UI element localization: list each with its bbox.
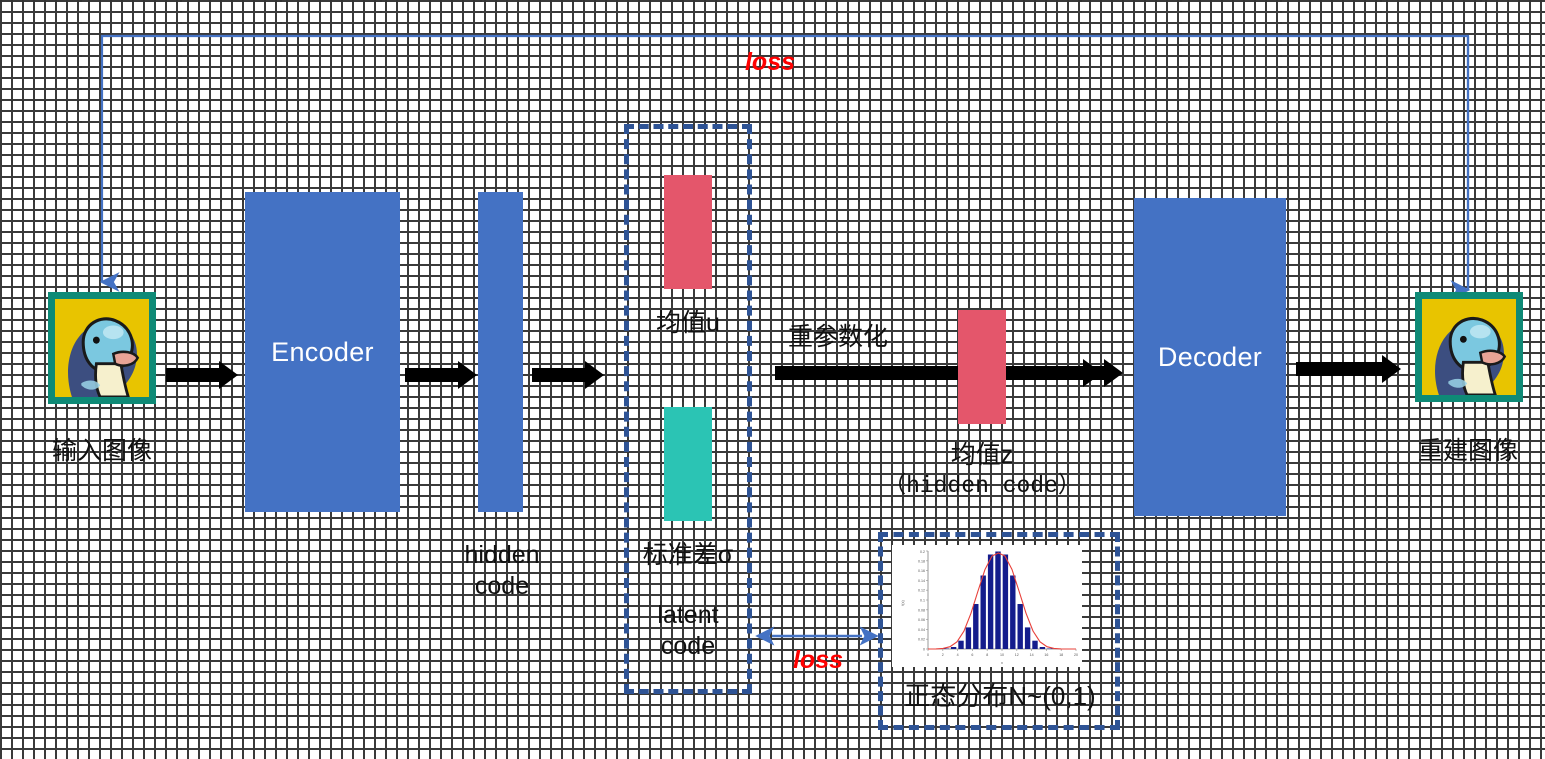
svg-text:0.16: 0.16: [918, 569, 925, 573]
normal-distribution-plot: 0 0.02 0.04 0.06 0.08 0.1 0.12 0.14 0.16…: [892, 545, 1082, 667]
mean-z-bar: [958, 310, 1006, 424]
histogram-chart: 0 0.02 0.04 0.06 0.08 0.1 0.12 0.14 0.16…: [892, 545, 1082, 667]
lapras-icon: [55, 299, 149, 397]
svg-text:0.1: 0.1: [920, 599, 925, 603]
svg-text:12: 12: [1015, 653, 1019, 657]
svg-text:4: 4: [957, 653, 959, 657]
svg-text:10: 10: [1000, 653, 1004, 657]
decoder-block: Decoder: [1134, 198, 1286, 516]
svg-text:0.2: 0.2: [920, 550, 925, 554]
std-sigma-label: 标准差σ: [610, 540, 766, 571]
svg-text:8: 8: [986, 653, 988, 657]
arrow-z-to-decoder: [1028, 366, 1106, 380]
svg-text:18: 18: [1059, 653, 1063, 657]
reconstructed-image-label: 重建图像: [1386, 436, 1545, 467]
mean-u-label: 均值u: [616, 308, 760, 339]
reparameterization-label: 重参数化: [788, 322, 948, 353]
svg-text:0: 0: [923, 648, 925, 652]
hidden-code-paren-label: （hidden code）: [880, 472, 1084, 501]
mean-z-label: 均值z: [910, 440, 1054, 471]
svg-text:20: 20: [1074, 653, 1078, 657]
hidden-code-label: hidden code: [440, 540, 564, 603]
latent-code-label: latent code: [626, 600, 750, 663]
hidden-code-bar: [478, 192, 523, 512]
svg-text:2: 2: [942, 653, 944, 657]
lapras-icon: [1422, 299, 1516, 395]
svg-text:0.12: 0.12: [918, 589, 925, 593]
std-sigma-bar: [664, 407, 712, 521]
svg-text:0.18: 0.18: [918, 559, 925, 563]
arrow-decoder-to-output: [1296, 362, 1384, 376]
svg-text:0.06: 0.06: [918, 618, 925, 622]
input-image-thumbnail: [48, 292, 156, 404]
encoder-label: Encoder: [271, 337, 374, 368]
loss-label-reconstruction: loss: [700, 48, 840, 77]
arrow-encoder-to-hidden: [405, 368, 460, 382]
encoder-block: Encoder: [245, 192, 400, 512]
svg-text:0.14: 0.14: [918, 579, 925, 583]
decoder-label: Decoder: [1158, 342, 1262, 373]
svg-text:14: 14: [1030, 653, 1034, 657]
loss-label-kl: loss: [760, 646, 876, 675]
normal-distribution-label: 正态分布N~(0,1): [884, 680, 1116, 713]
svg-text:0.08: 0.08: [918, 608, 925, 612]
reconstructed-image-thumbnail: [1415, 292, 1523, 402]
svg-text:16: 16: [1044, 653, 1048, 657]
svg-text:f(x): f(x): [901, 600, 905, 606]
svg-text:0.02: 0.02: [918, 638, 925, 642]
arrow-input-to-encoder: [166, 368, 221, 382]
svg-text:0: 0: [927, 653, 929, 657]
svg-text:x: x: [1001, 661, 1003, 665]
arrow-hidden-to-latent: [532, 368, 587, 382]
svg-text:0.04: 0.04: [918, 628, 925, 632]
vae-diagram-canvas: loss 输入图像 Encoder hidden code: [0, 0, 1545, 759]
mean-u-bar: [664, 175, 712, 289]
svg-text:6: 6: [971, 653, 973, 657]
input-image-label: 输入图像: [20, 436, 184, 467]
